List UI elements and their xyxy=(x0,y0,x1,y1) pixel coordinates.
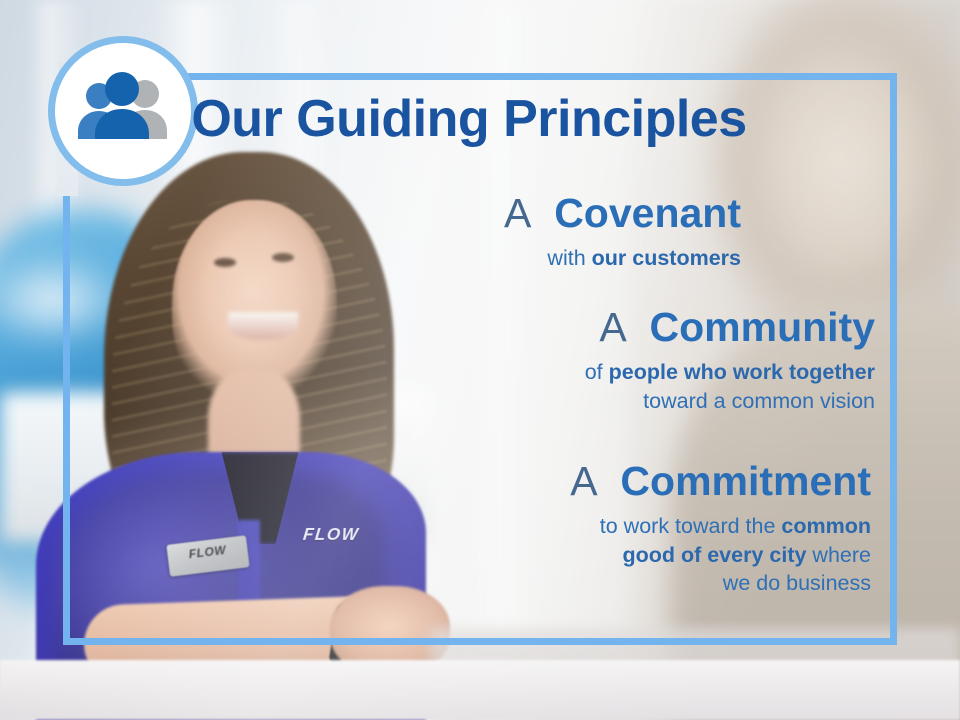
principle-commitment-article: A xyxy=(570,458,609,504)
principle-covenant-heading: A Covenant xyxy=(504,191,741,235)
principle-covenant: A Covenant with our customers xyxy=(504,191,741,273)
text-content: Our Guiding Principles A Covenant with o… xyxy=(63,73,897,645)
principle-covenant-word: Covenant xyxy=(554,190,741,236)
principle-commitment-subtext: to work toward the commongood of every c… xyxy=(570,512,871,597)
principle-commitment-heading: A Commitment xyxy=(570,459,871,503)
principle-covenant-subtext: with our customers xyxy=(504,244,741,272)
principle-commitment-word: Commitment xyxy=(620,458,871,504)
principle-community-subtext: of people who work togethertoward a comm… xyxy=(585,358,875,415)
principle-covenant-article: A xyxy=(504,190,543,236)
page-title: Our Guiding Principles xyxy=(63,93,875,145)
principle-community: A Community of people who work togethert… xyxy=(585,305,875,415)
desk-surface xyxy=(0,660,960,720)
principle-community-heading: A Community xyxy=(585,305,875,349)
principle-community-article: A xyxy=(599,304,638,350)
principle-commitment: A Commitment to work toward the commongo… xyxy=(570,459,871,597)
principle-community-word: Community xyxy=(650,304,876,350)
guiding-principles-graphic: FLOW FLOW Our Guiding Principles xyxy=(0,0,960,720)
